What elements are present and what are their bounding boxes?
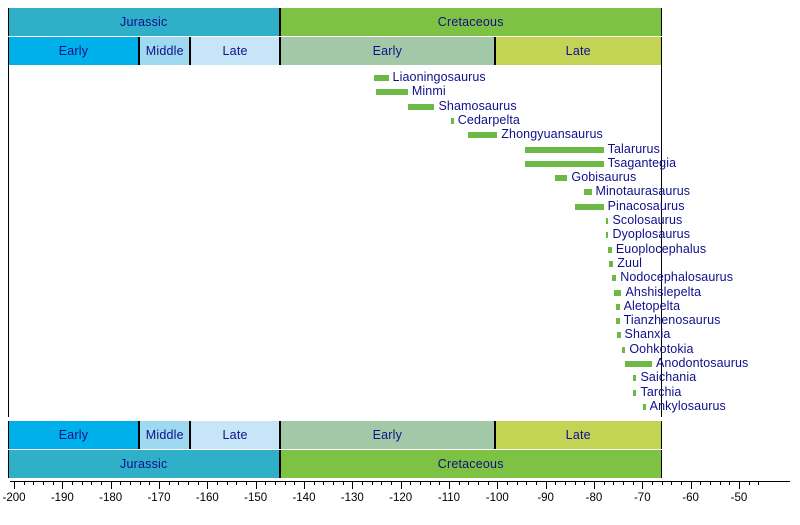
stage-band-label: Middle (146, 44, 184, 58)
axis-tick-minor (468, 481, 469, 485)
stage-band-early-0: Early (8, 421, 139, 449)
axis-tick-minor (410, 481, 411, 485)
taxon-label: Zuul (617, 256, 642, 270)
axis-tick-major (62, 481, 63, 489)
axis-tick-minor (236, 481, 237, 485)
taxon-label: Minotaurasaurus (596, 184, 691, 198)
axis-tick-major (207, 481, 208, 489)
taxon-row: Gobisaurus (0, 171, 800, 185)
range-bar (622, 347, 626, 353)
axis-tick-label: -150 (244, 492, 267, 504)
axis-tick-major (546, 481, 547, 489)
axis-tick-minor (430, 481, 431, 485)
stage-band-late-2: Late (190, 37, 279, 65)
axis-tick-label: -90 (537, 492, 554, 504)
taxon-label: Tsagantegia (608, 156, 677, 170)
axis-tick-minor (323, 481, 324, 485)
stage-band-middle-1: Middle (139, 421, 190, 449)
bottom-period-band-row: JurassicCretaceous (0, 450, 800, 478)
axis-tick-label: -100 (486, 492, 509, 504)
axis-tick-minor (53, 481, 54, 485)
axis-tick-minor (488, 481, 489, 485)
taxon-row: Minmi (0, 85, 800, 99)
axis-tick-minor (372, 481, 373, 485)
taxon-label: Dyoplosaurus (612, 227, 690, 241)
stage-band-label: Middle (146, 428, 184, 442)
range-bar (525, 161, 604, 167)
top-stage-band-row: EarlyMiddleLateEarlyLate (0, 37, 800, 65)
axis-tick-minor (24, 481, 25, 485)
axis-tick-minor (700, 481, 701, 485)
axis-tick-minor (517, 481, 518, 485)
axis-tick-minor (507, 481, 508, 485)
taxon-row: Tianzhenosaurus (0, 314, 800, 328)
range-bar (376, 89, 407, 95)
axis-tick-minor (565, 481, 566, 485)
axis-tick-major (111, 481, 112, 489)
stage-band-early-3: Early (280, 421, 495, 449)
range-bar (555, 175, 567, 181)
axis-tick-minor (584, 481, 585, 485)
axis-tick-minor (613, 481, 614, 485)
range-bar (633, 390, 637, 396)
taxon-label: Aletopelta (624, 299, 681, 313)
axis-tick-minor (265, 481, 266, 485)
stage-band-label: Early (59, 428, 88, 442)
axis-tick-minor (169, 481, 170, 485)
range-bar (617, 332, 621, 338)
range-bar (451, 118, 453, 124)
stage-band-late-4: Late (495, 421, 662, 449)
axis-tick-minor (314, 481, 315, 485)
taxon-label: Oohkotokia (629, 342, 693, 356)
taxon-row: Nodocephalosaurus (0, 271, 800, 285)
axis-tick-minor (82, 481, 83, 485)
axis-tick-minor (33, 481, 34, 485)
taxon-label: Scolosaurus (612, 213, 682, 227)
stage-band-early-3: Early (280, 37, 495, 65)
range-bar (616, 318, 620, 324)
period-band-label: Cretaceous (438, 15, 504, 29)
stage-band-late-4: Late (495, 37, 662, 65)
axis-tick-minor (343, 481, 344, 485)
taxon-label: Saichania (640, 370, 696, 384)
range-bar (609, 261, 613, 267)
axis-tick-major (739, 481, 740, 489)
taxon-row: Tarchia (0, 386, 800, 400)
axis-tick-minor (662, 481, 663, 485)
axis-tick-major (642, 481, 643, 489)
axis-tick-minor (749, 481, 750, 485)
taxon-row: Talarurus (0, 143, 800, 157)
axis-tick-label: -180 (99, 492, 122, 504)
axis-tick-minor (681, 481, 682, 485)
axis-tick-minor (294, 481, 295, 485)
taxon-row: Saichania (0, 371, 800, 385)
bottom-stage-band-row: EarlyMiddleLateEarlyLate (0, 421, 800, 449)
axis-tick-minor (285, 481, 286, 485)
range-bar (643, 404, 645, 410)
taxon-row: Pinacosaurus (0, 200, 800, 214)
axis-tick-minor (729, 481, 730, 485)
axis-tick-minor (671, 481, 672, 485)
axis-tick-label: -60 (682, 492, 699, 504)
axis-tick-minor (555, 481, 556, 485)
taxon-label: Minmi (412, 84, 446, 98)
axis-tick-major (691, 481, 692, 489)
axis-tick-major (449, 481, 450, 489)
axis-tick-minor (120, 481, 121, 485)
taxon-row: Ankylosaurus (0, 400, 800, 414)
stage-band-label: Early (373, 44, 402, 58)
axis-tick-minor (575, 481, 576, 485)
taxon-label: Talarurus (608, 142, 660, 156)
axis-tick-minor (420, 481, 421, 485)
taxon-row: Minotaurasaurus (0, 185, 800, 199)
taxon-label: Pinacosaurus (608, 199, 685, 213)
range-bar (614, 290, 621, 296)
axis-tick-label: -80 (586, 492, 603, 504)
taxon-row: Zuul (0, 257, 800, 271)
axis-tick-minor (604, 481, 605, 485)
range-bar (468, 132, 497, 138)
taxon-label: Nodocephalosaurus (620, 270, 733, 284)
axis-tick-minor (623, 481, 624, 485)
axis-tick-major (594, 481, 595, 489)
stage-band-label: Late (223, 428, 248, 442)
axis-tick-major (497, 481, 498, 489)
taxon-row: Cedarpelta (0, 114, 800, 128)
axis-tick-label: -190 (51, 492, 74, 504)
axis-tick-minor (439, 481, 440, 485)
axis-tick-minor (275, 481, 276, 485)
period-band-label: Jurassic (120, 457, 167, 471)
taxon-row: Anodontosaurus (0, 357, 800, 371)
range-bar (616, 304, 620, 310)
taxon-label: Shamosaurus (438, 99, 516, 113)
axis-tick-label: -120 (389, 492, 412, 504)
period-band-label: Jurassic (120, 15, 167, 29)
range-bar (525, 147, 604, 153)
stage-band-label: Late (223, 44, 248, 58)
range-bar (606, 218, 608, 224)
axis-tick-minor (198, 481, 199, 485)
axis-tick-minor (101, 481, 102, 485)
range-bar (625, 361, 652, 367)
taxon-label: Anodontosaurus (656, 356, 748, 370)
stage-band-label: Early (59, 44, 88, 58)
axis-tick-label: -110 (438, 492, 460, 504)
axis-tick-minor (478, 481, 479, 485)
taxon-label: Zhongyuansaurus (501, 127, 603, 141)
taxon-label: Shanxia (625, 327, 671, 341)
axis-tick-minor (246, 481, 247, 485)
top-period-band-row: JurassicCretaceous (0, 8, 800, 36)
stage-band-label: Late (566, 428, 591, 442)
axis-tick-minor (362, 481, 363, 485)
axis-tick-major (401, 481, 402, 489)
taxon-row: Oohkotokia (0, 343, 800, 357)
axis-tick-minor (149, 481, 150, 485)
taxon-row: Scolosaurus (0, 214, 800, 228)
stage-band-early-0: Early (8, 37, 139, 65)
period-band-cretaceous-1: Cretaceous (280, 450, 662, 478)
taxon-row: Liaoningosaurus (0, 71, 800, 85)
taxon-row: Euoplocephalus (0, 243, 800, 257)
stage-band-late-2: Late (190, 421, 279, 449)
axis-tick-minor (333, 481, 334, 485)
range-bar (633, 375, 637, 381)
stage-band-label: Late (566, 44, 591, 58)
taxon-row: Dyoplosaurus (0, 228, 800, 242)
axis-tick-minor (459, 481, 460, 485)
axis-tick-minor (227, 481, 228, 485)
taxon-label: Cedarpelta (458, 113, 520, 127)
axis-tick-minor (536, 481, 537, 485)
axis-tick-label: -50 (731, 492, 748, 504)
axis-tick-minor (217, 481, 218, 485)
axis-tick-minor (140, 481, 141, 485)
axis-tick-minor (633, 481, 634, 485)
range-bar (408, 104, 435, 110)
taxon-label: Gobisaurus (571, 170, 636, 184)
period-band-jurassic-0: Jurassic (8, 8, 280, 36)
stage-band-label: Early (373, 428, 402, 442)
axis-tick-minor (130, 481, 131, 485)
taxon-label: Tarchia (640, 385, 681, 399)
axis-tick-label: -140 (292, 492, 315, 504)
taxon-row: Aletopelta (0, 300, 800, 314)
taxon-row: Ahshislepelta (0, 286, 800, 300)
taxon-label: Ahshislepelta (626, 285, 702, 299)
axis-tick-minor (652, 481, 653, 485)
axis-tick-major (352, 481, 353, 489)
axis-tick-label: -200 (2, 492, 25, 504)
axis-tick-major (14, 481, 15, 489)
range-bar (584, 189, 591, 195)
axis-tick-minor (188, 481, 189, 485)
period-band-jurassic-0: Jurassic (8, 450, 280, 478)
period-band-label: Cretaceous (438, 457, 504, 471)
range-bar (606, 232, 608, 238)
axis-tick-major (159, 481, 160, 489)
axis-tick-minor (391, 481, 392, 485)
axis-tick-minor (381, 481, 382, 485)
taxon-row: Shanxia (0, 328, 800, 342)
axis-tick-label: -130 (341, 492, 364, 504)
axis-tick-label: -70 (634, 492, 651, 504)
taxon-row: Shamosaurus (0, 100, 800, 114)
axis-tick-minor (710, 481, 711, 485)
taxon-label: Ankylosaurus (650, 399, 726, 413)
taxon-label: Tianzhenosaurus (624, 313, 721, 327)
ankylosaur-range-chart: JurassicCretaceous EarlyMiddleLateEarlyL… (0, 0, 800, 525)
stage-band-middle-1: Middle (139, 37, 190, 65)
taxon-label: Liaoningosaurus (393, 70, 486, 84)
range-bar (608, 247, 611, 253)
range-bar (575, 204, 604, 210)
taxon-label: Euoplocephalus (616, 242, 706, 256)
range-bar (374, 75, 388, 81)
axis-tick-minor (178, 481, 179, 485)
axis-tick-label: -170 (147, 492, 170, 504)
axis-tick-minor (758, 481, 759, 485)
axis-tick-major (256, 481, 257, 489)
axis-tick-minor (91, 481, 92, 485)
period-band-cretaceous-1: Cretaceous (280, 8, 662, 36)
taxon-row: Zhongyuansaurus (0, 128, 800, 142)
axis-tick-minor (72, 481, 73, 485)
range-bar (612, 275, 616, 281)
axis-tick-major (304, 481, 305, 489)
taxon-row: Tsagantegia (0, 157, 800, 171)
axis-tick-minor (526, 481, 527, 485)
axis-tick-label: -160 (196, 492, 219, 504)
axis-tick-minor (43, 481, 44, 485)
axis-tick-minor (720, 481, 721, 485)
